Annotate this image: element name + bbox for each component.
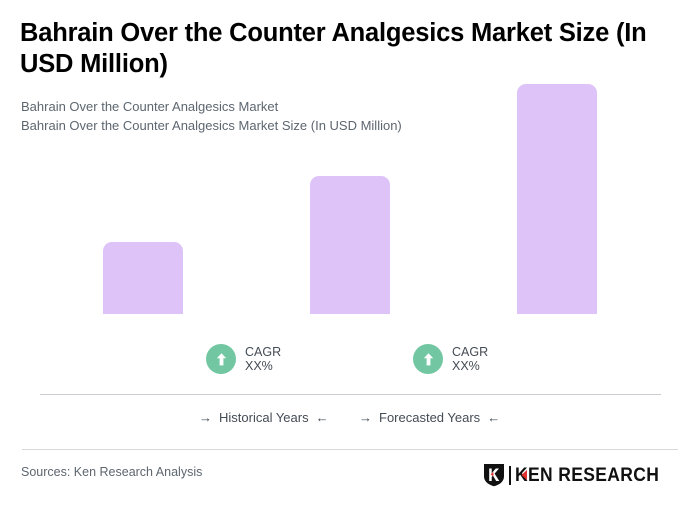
bar-2[interactable] — [310, 176, 390, 314]
cagr-badge-2[interactable]: CAGR XX% — [413, 344, 488, 374]
arrow-left-icon: ← — [487, 411, 500, 424]
logo-red-accent-icon — [521, 470, 527, 480]
cagr-badge-1-line2: XX% — [245, 359, 281, 374]
logo-wordmark: KEN RESEARCH — [515, 466, 659, 485]
cagr-badge-2-text: CAGR XX% — [452, 345, 488, 374]
sources-text: Sources: Ken Research Analysis — [21, 465, 202, 479]
arrow-right-icon: → — [199, 411, 212, 424]
bar-1[interactable] — [103, 242, 183, 314]
period-label-historical-text: Historical Years — [219, 410, 309, 425]
shield-logo-icon — [483, 463, 505, 487]
cagr-badge-1[interactable]: CAGR XX% — [206, 344, 281, 374]
bar-chart: ~USD XX Mn CAGR XX% ~USD 25 Mn — [0, 0, 700, 440]
cagr-badge-1-text: CAGR XX% — [245, 345, 281, 374]
cagr-badge-2-line2: XX% — [452, 359, 488, 374]
arrow-up-icon — [413, 344, 443, 374]
arrow-right-icon: → — [359, 411, 372, 424]
period-label-forecasted-text: Forecasted Years — [379, 410, 480, 425]
arrow-up-icon — [206, 344, 236, 374]
ken-research-logo: KEN RESEARCH — [483, 463, 672, 487]
chart-page: Bahrain Over the Counter Analgesics Mark… — [0, 0, 700, 520]
axis-baseline — [40, 394, 661, 395]
cagr-badge-2-line1: CAGR — [452, 345, 488, 360]
logo-wordmark-text: KEN RESEARCH — [515, 465, 659, 486]
period-label-historical: → Historical Years ← — [199, 410, 329, 425]
cagr-badge-1-line1: CAGR — [245, 345, 281, 360]
arrow-left-icon: ← — [316, 411, 329, 424]
period-label-forecasted: → Forecasted Years ← — [359, 410, 500, 425]
bar-3[interactable] — [517, 84, 597, 314]
logo-separator — [509, 466, 511, 485]
footer-divider — [22, 449, 678, 450]
